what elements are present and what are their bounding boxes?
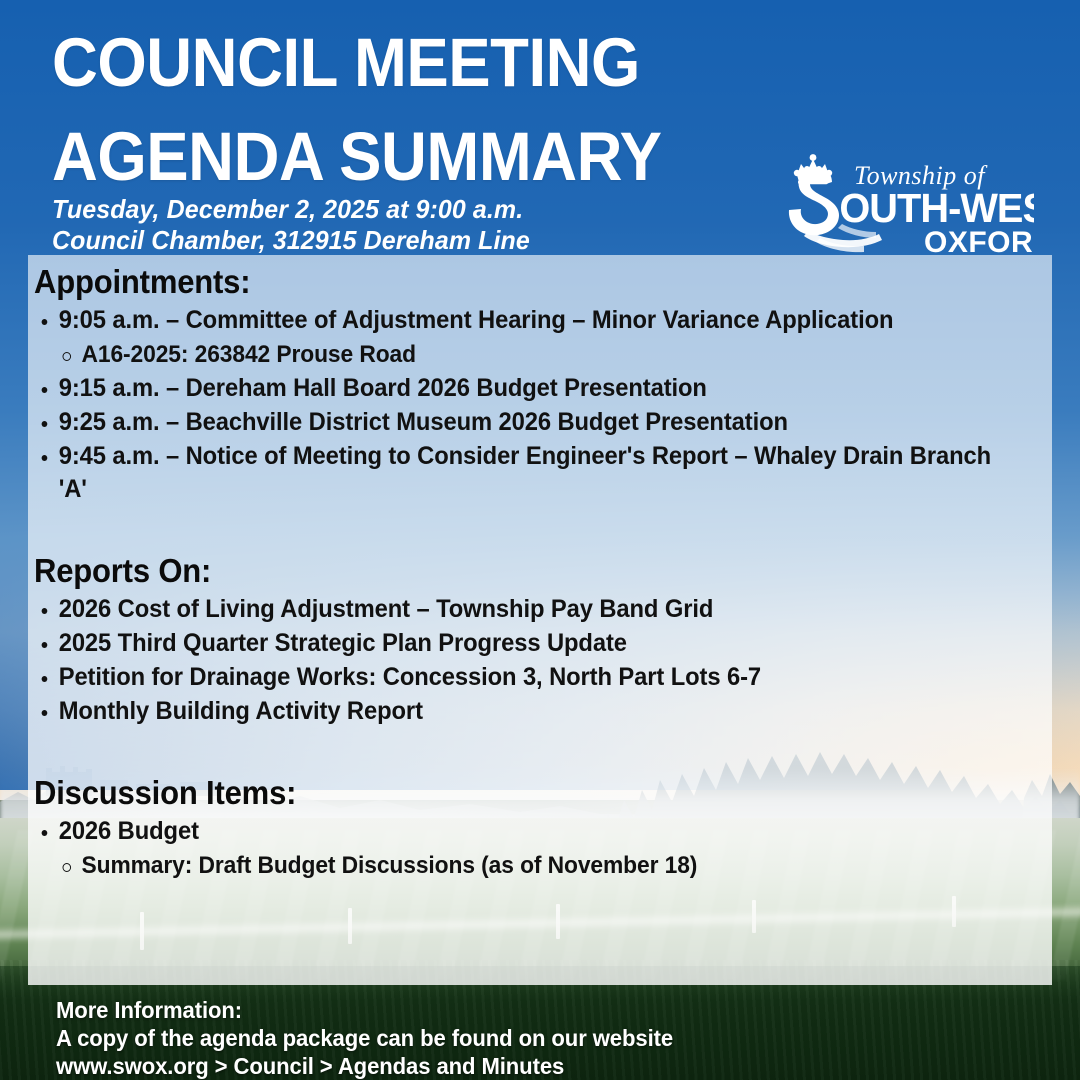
agenda-item: 9:15 a.m. – Dereham Hall Board 2026 Budg… <box>34 372 995 405</box>
agenda-section: Appointments:9:05 a.m. – Committee of Ad… <box>34 261 1046 506</box>
logo-main-text: OUTH-WEST <box>839 184 1034 231</box>
footer-note: A copy of the agenda package can be foun… <box>56 1024 843 1052</box>
agenda-item: Petition for Drainage Works: Concession … <box>34 661 995 694</box>
section-heading: Appointments: <box>34 261 985 302</box>
agenda-item: 9:45 a.m. – Notice of Meeting to Conside… <box>34 440 995 506</box>
agenda-panel: Appointments:9:05 a.m. – Committee of Ad… <box>28 255 1052 985</box>
footer-website-path[interactable]: www.swox.org > Council > Agendas and Min… <box>56 1052 843 1080</box>
agenda-item: 2026 Budget <box>34 815 995 848</box>
agenda-item: 9:05 a.m. – Committee of Adjustment Hear… <box>34 304 995 337</box>
meeting-datetime: Tuesday, December 2, 2025 at 9:00 a.m. <box>52 194 530 225</box>
agenda-item: Monthly Building Activity Report <box>34 695 995 728</box>
meeting-location: Council Chamber, 312915 Dereham Line <box>52 225 530 256</box>
agenda-item: A16-2025: 263842 Prouse Road <box>34 338 995 371</box>
footer-heading: More Information: <box>56 996 843 1024</box>
logo-sub-text: OXFORD <box>924 226 1034 256</box>
agenda-item: 9:25 a.m. – Beachville District Museum 2… <box>34 406 995 439</box>
agenda-sections: Appointments:9:05 a.m. – Committee of Ad… <box>34 261 1046 883</box>
township-logo: Township of OUTH-WEST OXFORD <box>786 152 1034 256</box>
meeting-details: Tuesday, December 2, 2025 at 9:00 a.m. C… <box>52 194 530 256</box>
footer-info: More Information: A copy of the agenda p… <box>56 996 843 1080</box>
agenda-section: Reports On:2026 Cost of Living Adjustmen… <box>34 550 1046 728</box>
page-title: COUNCIL MEETING AGENDA SUMMARY <box>52 16 751 204</box>
agenda-item: 2026 Cost of Living Adjustment – Townshi… <box>34 593 995 626</box>
agenda-item-list: 2026 Cost of Living Adjustment – Townshi… <box>34 593 1046 728</box>
agenda-item-list: 2026 BudgetSummary: Draft Budget Discuss… <box>34 815 1046 882</box>
agenda-section: Discussion Items:2026 BudgetSummary: Dra… <box>34 772 1046 882</box>
agenda-item: 2025 Third Quarter Strategic Plan Progre… <box>34 627 995 660</box>
agenda-item: Summary: Draft Budget Discussions (as of… <box>34 849 995 882</box>
section-heading: Reports On: <box>34 550 985 591</box>
agenda-item-list: 9:05 a.m. – Committee of Adjustment Hear… <box>34 304 1046 506</box>
agenda-poster: COUNCIL MEETING AGENDA SUMMARY Tuesday, … <box>0 0 1080 1080</box>
section-heading: Discussion Items: <box>34 772 985 813</box>
